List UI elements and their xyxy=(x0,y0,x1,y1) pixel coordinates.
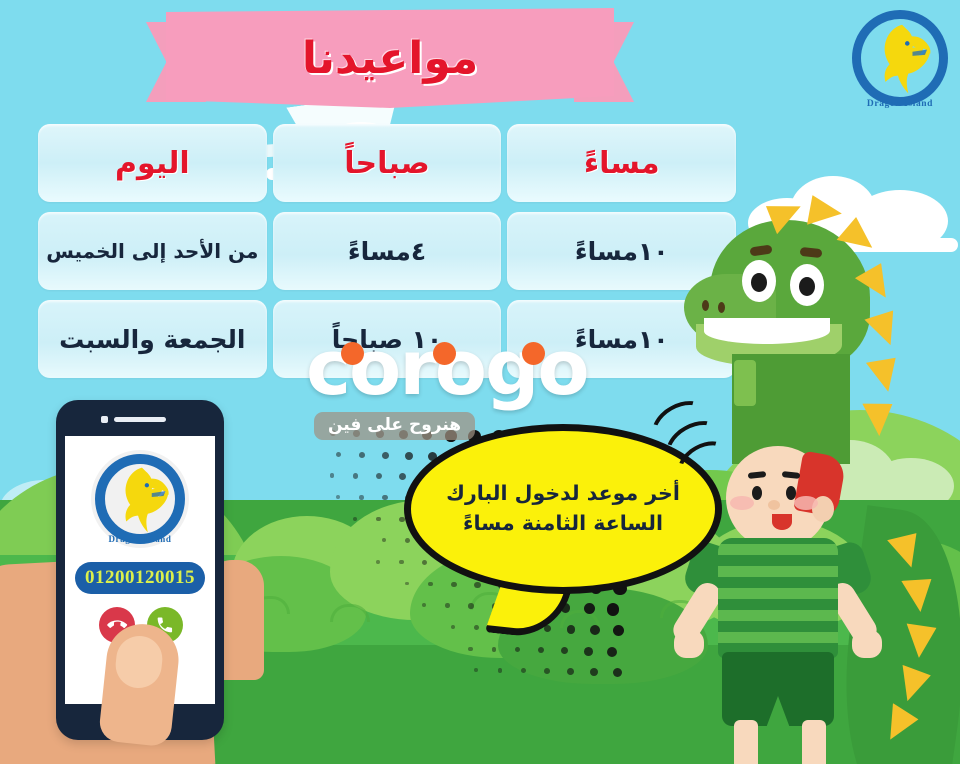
page-title: مواعيدنا xyxy=(302,33,478,84)
poster-canvas: مواعيدنا Dragon Island مساءً صباحاً اليو… xyxy=(0,0,960,764)
halftone-dot xyxy=(451,625,455,629)
halftone-dot xyxy=(353,517,357,521)
halftone-dot xyxy=(422,603,426,607)
halftone-dot xyxy=(376,430,384,438)
logo-caption: Dragon Island xyxy=(848,99,952,109)
cell-morning[interactable]: ٤مساءً xyxy=(273,212,502,290)
halftone-dot xyxy=(359,495,364,500)
table-row: ١٠مساءً ١٠ صباحاً الجمعة والسبت xyxy=(38,300,736,378)
halftone-dot xyxy=(567,625,576,634)
boy-hand-right xyxy=(852,630,882,658)
halftone-dot xyxy=(382,538,386,542)
halftone-dot xyxy=(382,452,389,459)
phone-number-display[interactable]: 01200120015 xyxy=(75,562,205,594)
halftone-dot xyxy=(590,668,598,676)
banner-body: مواعيدنا xyxy=(166,8,614,108)
dragon-eye-left xyxy=(742,260,776,302)
dragon-costume-boy-illustration xyxy=(690,196,960,764)
title-banner: مواعيدنا xyxy=(140,8,640,116)
halftone-dot xyxy=(584,647,593,656)
halftone-dot xyxy=(376,560,380,564)
value-evening: ١٠مساءً xyxy=(575,325,669,354)
halftone-dot xyxy=(330,430,336,436)
dragon-eye-right xyxy=(790,264,824,306)
halftone-dot xyxy=(567,668,574,675)
halftone-dot xyxy=(498,668,502,672)
boy-striped-shirt xyxy=(718,538,838,658)
front-camera-icon xyxy=(101,416,108,423)
halftone-dot xyxy=(521,668,526,673)
halftone-dot xyxy=(474,668,478,672)
logo-caption: Dragon Island xyxy=(91,534,189,544)
boy-leg-right xyxy=(802,720,826,764)
bubble-line-2: الساعة الثامنة مساءً xyxy=(463,510,663,538)
halftone-dot xyxy=(468,647,472,651)
dragon-neck-highlight xyxy=(734,360,756,406)
bubble-line-1: أخر موعد لدخول البارك xyxy=(446,480,680,508)
halftone-dot xyxy=(336,495,340,499)
halftone-dot xyxy=(359,452,365,458)
halftone-dot xyxy=(376,517,381,522)
halftone-dot xyxy=(445,603,450,608)
halftone-dot xyxy=(607,647,617,657)
value-evening: ١٠مساءً xyxy=(575,237,669,266)
boy-hand-left xyxy=(674,630,704,658)
value-morning: ٤مساءً xyxy=(348,237,426,266)
halftone-dot xyxy=(382,495,387,500)
halftone-dot xyxy=(538,647,545,654)
boy-eye-right xyxy=(786,486,796,500)
halftone-dot xyxy=(584,603,595,614)
boy-eye-left xyxy=(752,486,762,500)
halftone-dot xyxy=(468,603,473,608)
header-cell-day[interactable]: اليوم xyxy=(38,124,267,202)
brand-logo: Dragon Island xyxy=(848,6,952,110)
halftone-dot xyxy=(353,430,360,437)
header-label-morning: صباحاً xyxy=(344,146,429,181)
halftone-dot xyxy=(492,647,497,652)
halftone-dot xyxy=(613,625,624,636)
halftone-dot xyxy=(590,625,600,635)
earpiece-speaker xyxy=(114,417,166,422)
header-cell-morning[interactable]: صباحاً xyxy=(273,124,502,202)
value-morning: ١٠ صباحاً xyxy=(332,325,442,354)
cell-day[interactable]: من الأحد إلى الخميس xyxy=(38,212,267,290)
halftone-dot xyxy=(399,560,403,564)
boy-mouth xyxy=(772,514,792,530)
halftone-dot xyxy=(544,668,550,674)
halftone-dot xyxy=(613,668,622,677)
dragon-head-icon xyxy=(848,6,952,110)
schedule-table: مساءً صباحاً اليوم ١٠مساءً ٤مساءً من الأ… xyxy=(38,124,736,388)
cell-day[interactable]: الجمعة والسبت xyxy=(38,300,267,378)
value-day: الجمعة والسبت xyxy=(59,325,245,354)
table-row: ١٠مساءً ٤مساءً من الأحد إلى الخميس xyxy=(38,212,736,290)
phone-brand-logo: Dragon Island xyxy=(91,450,189,548)
boy-leg-left xyxy=(734,720,758,764)
header-label-day: اليوم xyxy=(115,146,190,181)
halftone-dot xyxy=(474,625,479,630)
header-cell-evening[interactable]: مساءً xyxy=(507,124,736,202)
halftone-dot xyxy=(353,473,358,478)
halftone-dot xyxy=(607,603,619,615)
halftone-dot xyxy=(376,473,382,479)
value-day: من الأحد إلى الخميس xyxy=(46,239,258,263)
halftone-dot xyxy=(561,647,569,655)
halftone-dot xyxy=(330,473,334,477)
dragon-mouth xyxy=(704,318,830,344)
table-header-row: مساءً صباحاً اليوم xyxy=(38,124,736,202)
halftone-dot xyxy=(515,647,521,653)
cell-morning[interactable]: ١٠ صباحاً xyxy=(273,300,502,378)
halftone-dot xyxy=(336,452,341,457)
header-label-evening: مساءً xyxy=(584,146,660,181)
